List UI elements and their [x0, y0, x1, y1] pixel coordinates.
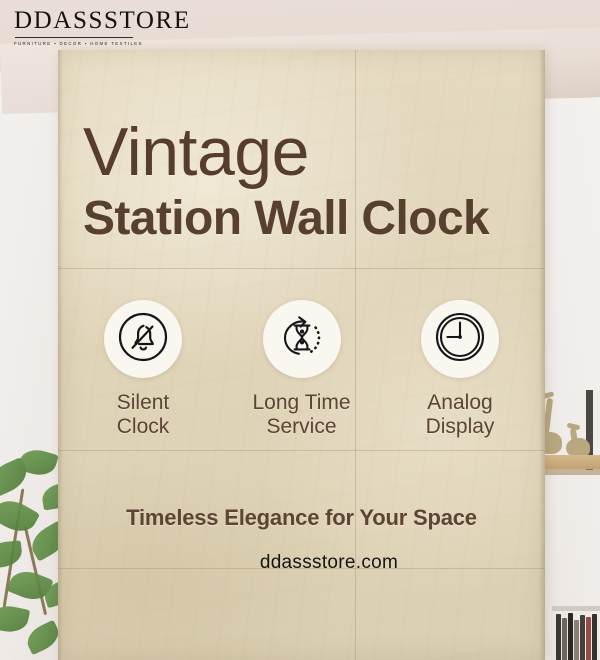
feature-icon-badge [263, 300, 341, 378]
feature-item-analog-display: Analog Display [385, 300, 535, 440]
promo-content: Vintage Station Wall Clock [58, 50, 545, 660]
feature-icon-badge [104, 300, 182, 378]
feature-item-long-time-service: Long Time Service [227, 300, 377, 440]
hourglass-rotate-icon [274, 309, 330, 370]
feature-icon-badge [421, 300, 499, 378]
feature-label-line-1: Long Time [252, 391, 350, 415]
analog-clock-icon [432, 309, 488, 370]
feature-list: Silent Clock [68, 300, 535, 440]
brand-subtitle: FURNITURE ▪ DECOR ▪ HOME TEXTILES [14, 41, 191, 46]
feature-label-line-2: Display [426, 415, 495, 439]
brand-name: DDASSSTORE [14, 8, 191, 33]
feature-label-line-2: Clock [117, 415, 170, 439]
lower-shelf [552, 606, 600, 611]
bell-slash-icon [115, 309, 171, 370]
feature-label-line-2: Service [252, 415, 350, 439]
headline-line-2: Station Wall Clock [83, 195, 489, 243]
brand-logo[interactable]: DDASSSTORE FURNITURE ▪ DECOR ▪ HOME TEXT… [14, 8, 191, 46]
headline-line-1: Vintage [83, 118, 309, 186]
feature-label: Long Time Service [252, 391, 350, 440]
website-url[interactable]: ddassstore.com [58, 552, 545, 574]
feature-label-line-1: Analog [426, 391, 495, 415]
feature-label: Analog Display [426, 391, 495, 440]
feature-label-line-1: Silent [117, 391, 170, 415]
book-row [556, 612, 600, 660]
feature-item-silent-clock: Silent Clock [68, 300, 218, 440]
promo-banner: DDASSSTORE FURNITURE ▪ DECOR ▪ HOME TEXT… [0, 0, 600, 660]
feature-label: Silent Clock [117, 391, 170, 440]
logo-divider [15, 37, 133, 38]
promo-tagline: Timeless Elegance for Your Space [58, 505, 545, 531]
